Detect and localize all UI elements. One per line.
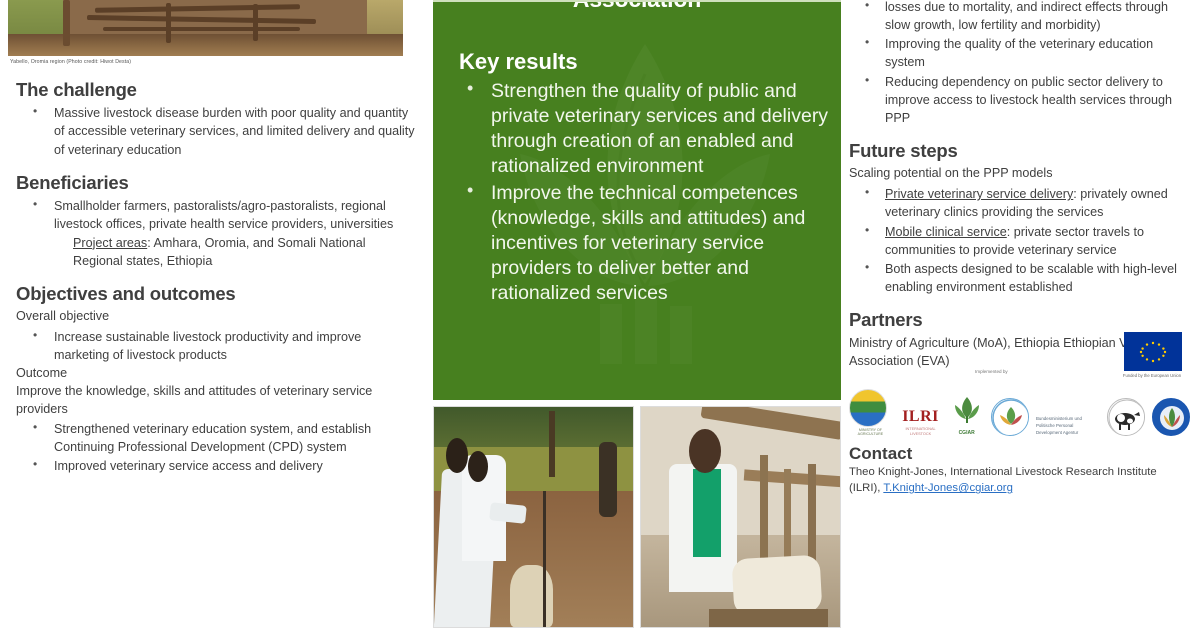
center-photo-row xyxy=(433,400,841,628)
photo-post-2 xyxy=(253,4,258,41)
ministry-logo: MINISTRY OF AGRICULTURE xyxy=(849,389,892,437)
list-item: Improve the technical competences (knowl… xyxy=(459,181,831,306)
igad-logo xyxy=(1152,398,1190,436)
photo-sheep xyxy=(731,554,821,616)
list-item: Increase sustainable livestock productiv… xyxy=(16,328,417,364)
list-item: Reducing dependency on public sector del… xyxy=(849,73,1190,127)
photo-rail-1 xyxy=(95,4,300,13)
logo-strip: Funded by the European Union Implemented… xyxy=(849,382,1190,436)
list-item: Massive livestock disease burden with po… xyxy=(16,104,417,158)
list-item: Private veterinary service delivery: pri… xyxy=(849,185,1190,221)
photo-caption: Yabello, Oromia region (Photo credit: Hi… xyxy=(10,59,417,66)
project-areas-note: Project areas: Amhara, Oromia, and Somal… xyxy=(16,234,417,270)
ministry-logo-label: MINISTRY OF AGRICULTURE xyxy=(849,428,892,437)
bullet-lead: Private veterinary service delivery xyxy=(885,187,1073,201)
cow-icon xyxy=(1108,399,1145,436)
photo-pole xyxy=(543,491,546,627)
heading-contact: Contact xyxy=(849,444,1190,464)
heading-beneficiaries: Beneficiaries xyxy=(16,172,417,194)
right-column: losses due to mortality, and indirect ef… xyxy=(841,0,1200,628)
bullet-lead: Mobile clinical service xyxy=(885,225,1007,239)
header-photo-livestock-enclosure xyxy=(8,0,403,56)
left-column: Yabello, Oromia region (Photo credit: Hi… xyxy=(0,0,431,628)
poster-root: Yabello, Oromia region (Photo credit: Hi… xyxy=(0,0,1200,628)
heading-partners: Partners xyxy=(849,309,1190,331)
impact-list: losses due to mortality, and indirect ef… xyxy=(849,0,1190,127)
photo-post-1 xyxy=(166,3,171,42)
heading-future-steps: Future steps xyxy=(849,140,1190,162)
list-item: Strengthen the quality of public and pri… xyxy=(459,79,831,179)
beneficiaries-list: Smallholder farmers, pastoralists/agro-p… xyxy=(16,197,417,233)
center-column: Association Key results Strengthen the q… xyxy=(431,0,841,628)
panel-title: Association xyxy=(433,0,841,13)
eu-flag-icon xyxy=(1124,332,1182,371)
photo-person-background xyxy=(599,442,617,517)
eiar-logo xyxy=(991,398,1029,436)
photo-tree xyxy=(549,411,555,477)
cgiar-logo-label: CGIAR xyxy=(949,430,984,436)
list-item: losses due to mortality, and indirect ef… xyxy=(849,0,1190,34)
outcome-list: Strengthened veterinary education system… xyxy=(16,420,417,475)
heading-key-results: Key results xyxy=(459,49,841,75)
photo-vet-head xyxy=(689,429,721,473)
contact-text: Theo Knight-Jones, International Livesto… xyxy=(849,464,1190,496)
eiar-emblem-icon xyxy=(992,399,1029,436)
heading-the-challenge: The challenge xyxy=(16,79,417,101)
photo-log xyxy=(709,609,828,627)
photo-rail-2 xyxy=(87,15,316,24)
overall-objective-label: Overall objective xyxy=(16,308,417,325)
development-agency-logo: Bundesministerium undPolitische Personal… xyxy=(1036,416,1100,436)
list-item: Strengthened veterinary education system… xyxy=(16,420,417,456)
cow-logo xyxy=(1107,398,1145,436)
list-item: Improving the quality of the veterinary … xyxy=(849,35,1190,71)
photo-worker-head-2 xyxy=(468,451,488,482)
cgiar-leaf-icon xyxy=(952,396,982,424)
eu-stars-icon xyxy=(1133,339,1173,365)
photo-vet-shirt xyxy=(693,469,721,557)
future-steps-subtitle: Scaling potential on the PPP models xyxy=(849,165,1190,182)
development-agency-label: Bundesministerium undPolitische Personal… xyxy=(1036,416,1100,436)
photo-post-3 xyxy=(63,0,70,46)
heading-objectives-and-outcomes: Objectives and outcomes xyxy=(16,283,417,305)
photo-worker-head-1 xyxy=(446,438,468,473)
key-results-list: Strengthen the quality of public and pri… xyxy=(459,79,831,306)
photo-field-vaccination xyxy=(433,406,634,628)
challenge-list: Massive livestock disease burden with po… xyxy=(16,104,417,158)
ilri-logo-label: ILRI xyxy=(899,409,942,425)
photo-rail-3 xyxy=(103,27,301,31)
photo-goat xyxy=(510,565,554,627)
cgiar-logo: CGIAR xyxy=(949,396,984,436)
project-areas-label: Project areas xyxy=(73,236,147,250)
ilri-logo-sub: INTERNATIONALLIVESTOCK xyxy=(899,427,942,436)
bullet-rest: Both aspects designed to be scalable wit… xyxy=(885,262,1177,294)
list-item: Smallholder farmers, pastoralists/agro-p… xyxy=(16,197,417,233)
contact-email-link[interactable]: T.Knight-Jones@cgiar.org xyxy=(883,482,1013,494)
key-results-panel: Association Key results Strengthen the q… xyxy=(433,0,841,400)
list-item: Improved veterinary service access and d… xyxy=(16,457,417,475)
eu-caption: Funded by the European Union xyxy=(1116,373,1188,378)
outcome-label: Outcome xyxy=(16,365,417,382)
photo-worker-arm xyxy=(489,502,526,523)
overall-objective-list: Increase sustainable livestock productiv… xyxy=(16,328,417,364)
ilri-logo: ILRI INTERNATIONALLIVESTOCK xyxy=(899,409,942,436)
photo-pen-examination xyxy=(640,406,841,628)
list-item: Mobile clinical service: private sector … xyxy=(849,223,1190,259)
list-item: Both aspects designed to be scalable wit… xyxy=(849,260,1190,296)
igad-emblem-icon xyxy=(1153,399,1190,436)
future-steps-list: Private veterinary service delivery: pri… xyxy=(849,185,1190,296)
outcome-text: Improve the knowledge, skills and attitu… xyxy=(16,383,417,418)
implemented-by-label: Implemented by xyxy=(975,369,1008,374)
